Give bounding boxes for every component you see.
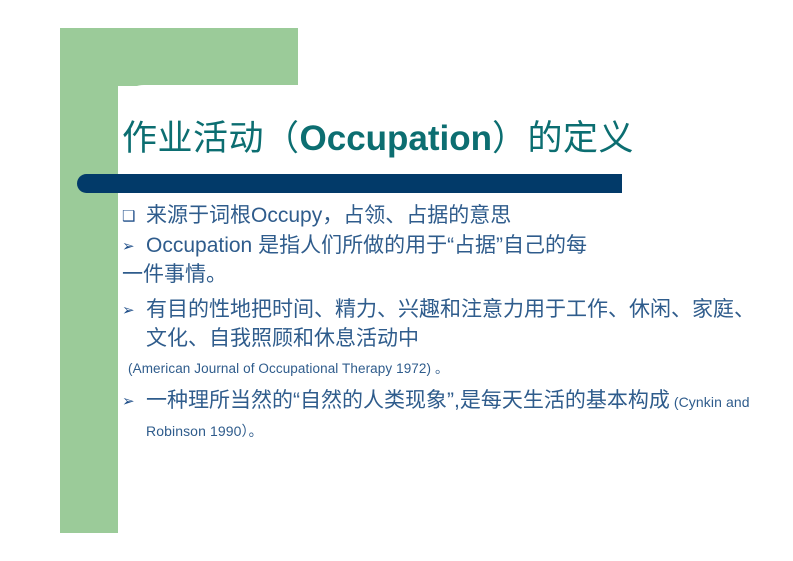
title-prefix-cn: 作业活动（	[122, 119, 300, 158]
title-suffix-cn: ）的定义	[492, 119, 634, 158]
arrowhead-bullet-icon: ➢	[122, 387, 146, 409]
title-emphasis-en: Occupation	[300, 119, 493, 158]
list-item-main-text: 一种理所当然的“自然的人类现象”,是每天生活的基本构成	[146, 389, 670, 412]
decorative-green-header-block	[60, 28, 298, 86]
list-item-text: 来源于词根Occupy，占领、占据的意思	[146, 202, 762, 231]
presentation-slide: 作业活动（Occupation）的定义 ❑ 来源于词根Occupy，占领、占据的…	[0, 0, 793, 561]
list-item: ❑ 来源于词根Occupy，占领、占据的意思	[122, 202, 762, 231]
arrowhead-bullet-icon: ➢	[122, 232, 146, 254]
body-content: ❑ 来源于词根Occupy，占领、占据的意思 ➢ Occupation 是指人们…	[122, 202, 762, 445]
list-item-text: 有目的性地把时间、精力、兴趣和注意力用于工作、休闲、家庭、文化、自我照顾和休息活…	[146, 296, 762, 354]
list-item-text: Occupation 是指人们所做的用于“占据”自己的每	[146, 232, 762, 261]
page-title: 作业活动（Occupation）的定义	[122, 120, 634, 159]
list-item: ➢ Occupation 是指人们所做的用于“占据”自己的每	[122, 232, 762, 261]
title-block: 作业活动（Occupation）的定义	[122, 110, 742, 168]
decorative-green-sidebar	[60, 28, 118, 533]
list-item: ➢ 一种理所当然的“自然的人类现象”,是每天生活的基本构成 (Cynkin an…	[122, 387, 762, 445]
citation-reference: (American Journal of Occupational Therap…	[128, 360, 762, 379]
list-item: ➢ 有目的性地把时间、精力、兴趣和注意力用于工作、休闲、家庭、文化、自我照顾和休…	[122, 296, 762, 354]
arrowhead-bullet-icon: ➢	[122, 296, 146, 318]
hollow-square-bullet-icon: ❑	[122, 202, 146, 224]
title-underline-bar	[77, 174, 622, 193]
list-item-continuation: 一件事情。	[122, 261, 762, 290]
list-item-text: 一种理所当然的“自然的人类现象”,是每天生活的基本构成 (Cynkin and …	[146, 387, 762, 445]
